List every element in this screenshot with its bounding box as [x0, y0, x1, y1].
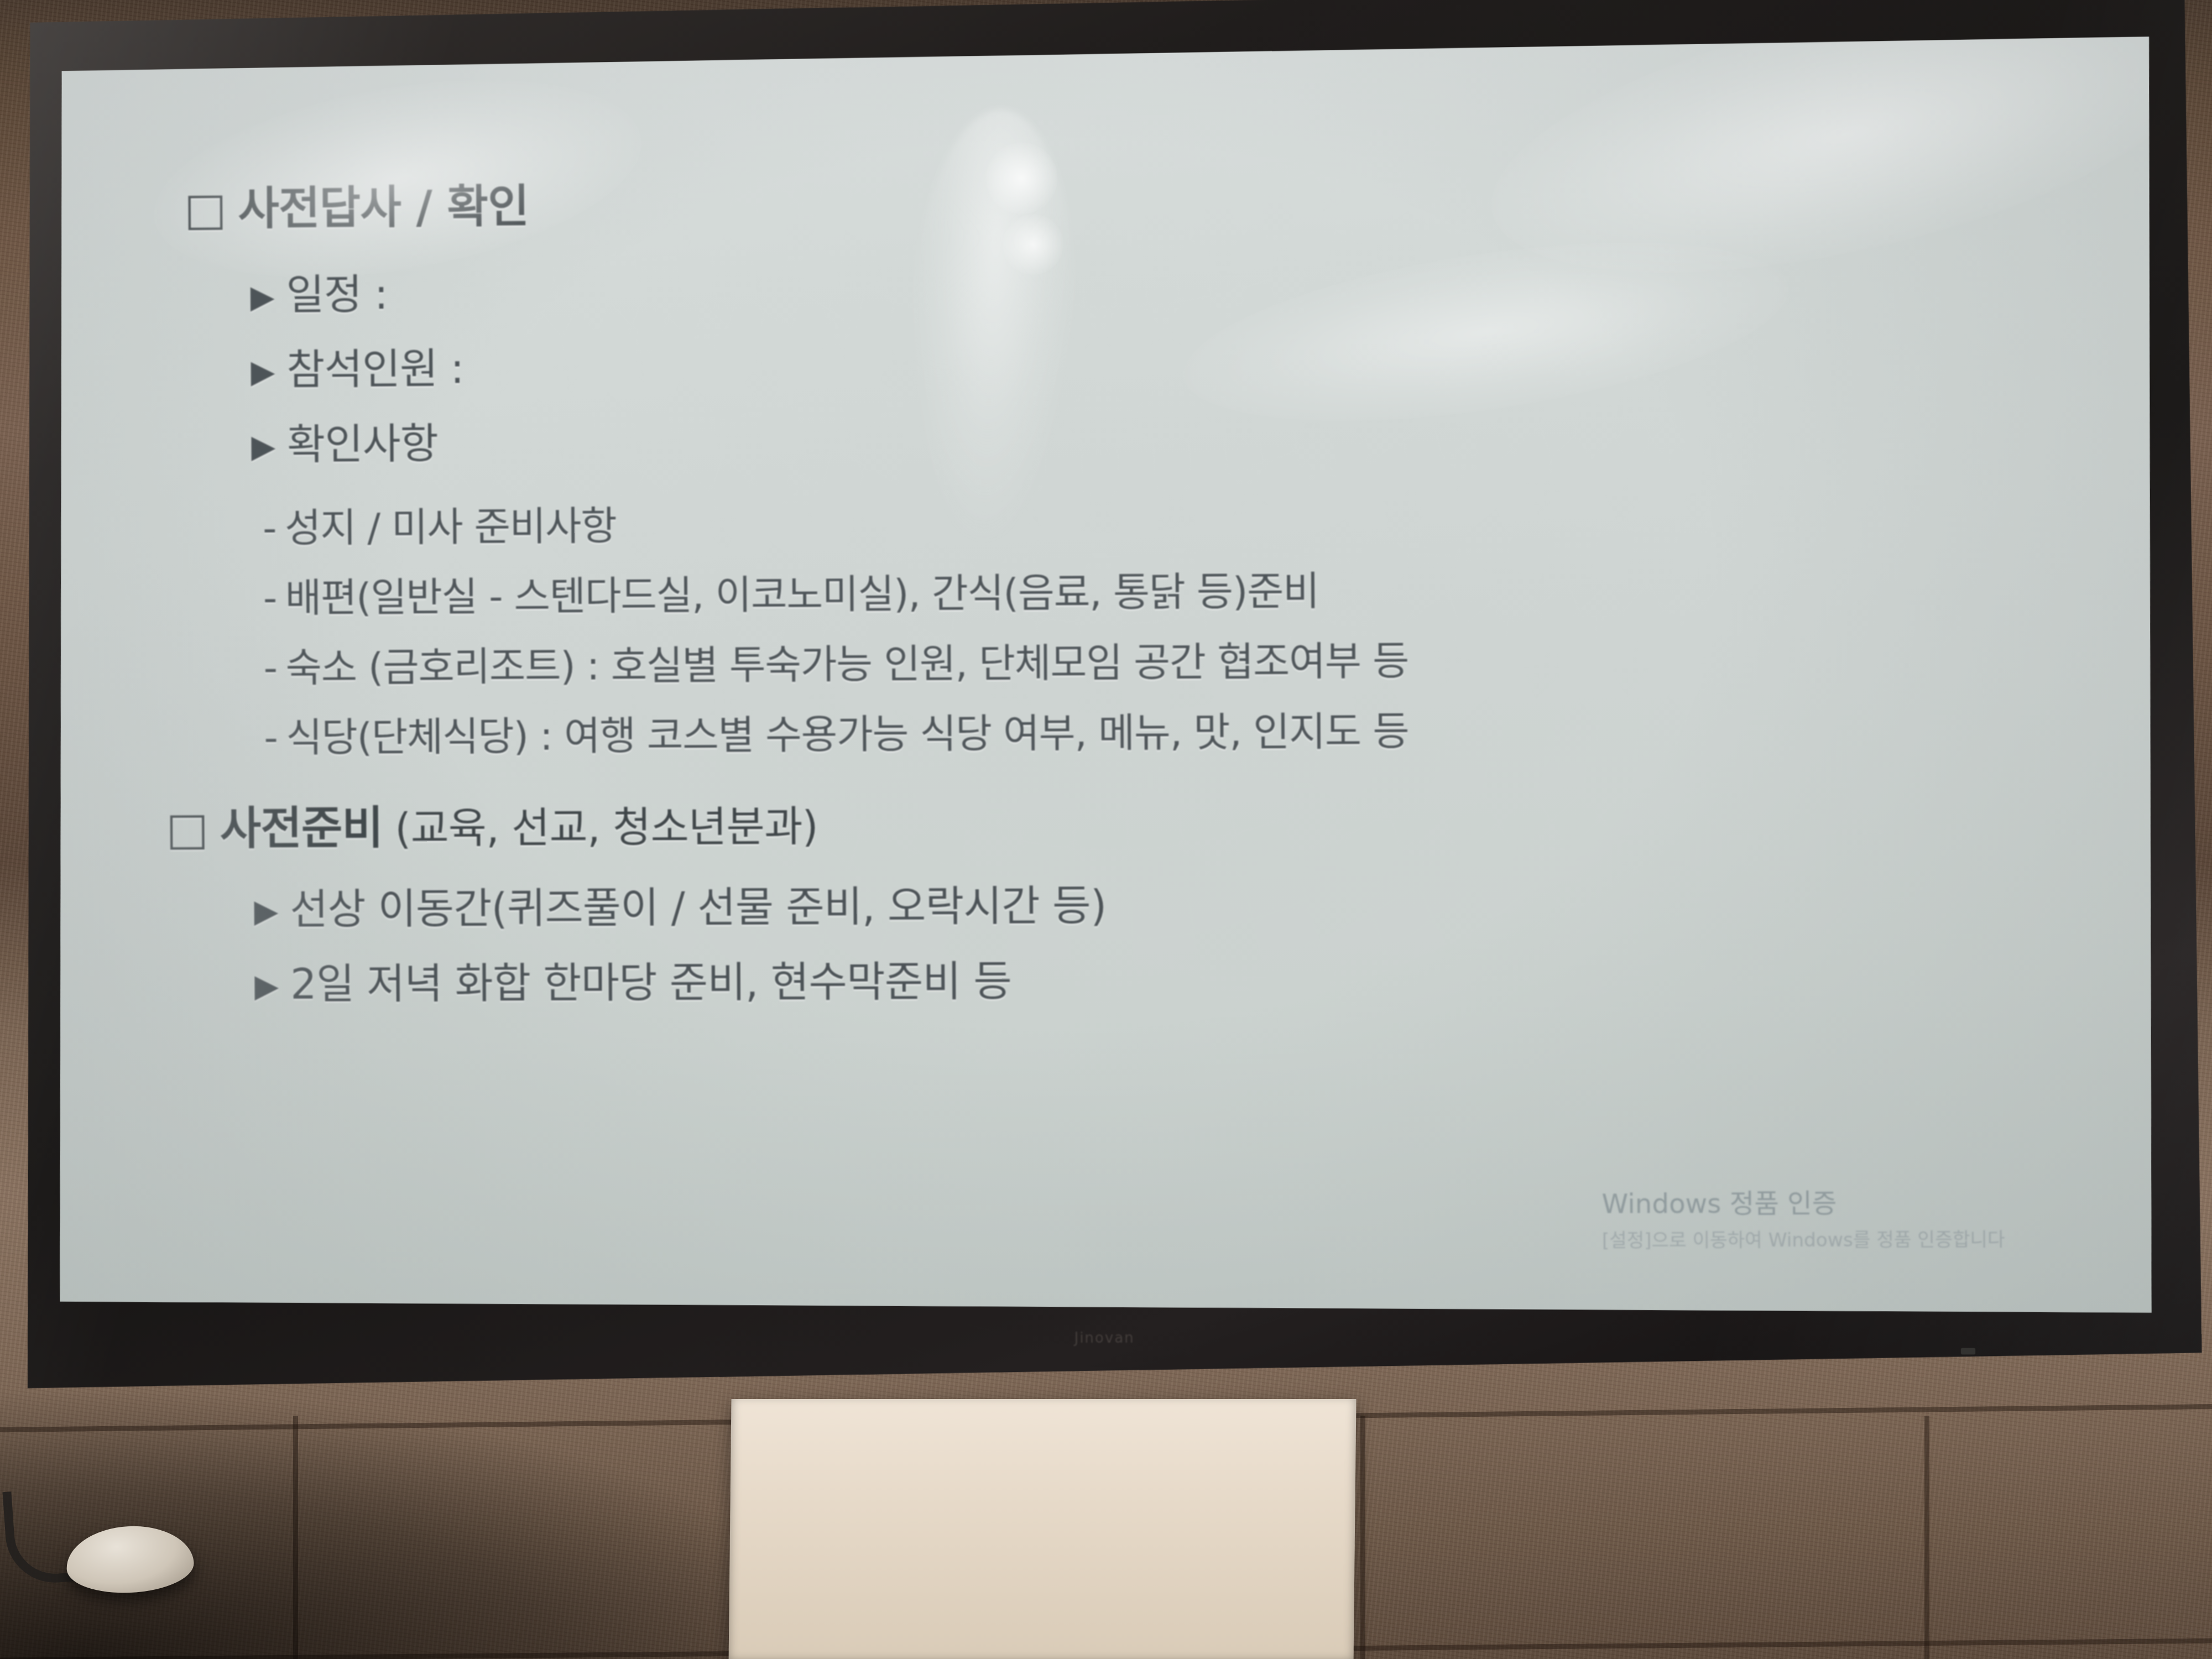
sub-list-item-label: 성지 / 미사 준비사항	[285, 502, 617, 551]
tv-screen[interactable]: □사전답사 / 확인 ▶일정 : ▶참석인원 : ▶확인사항 -성지 / 미사 …	[53, 36, 2161, 1327]
list-item: ▶일정 :	[250, 245, 2088, 322]
sub-list-item-label: 배편(일반실 - 스텐다드실, 이코노미실), 간식(음료, 통닭 등)준비	[285, 567, 1319, 620]
list-item-label: 2일 저녁 화합 한마당 준비, 현수막준비 등	[290, 957, 1012, 1009]
list-item-label: 일정 :	[286, 270, 388, 320]
presentation-slide: □사전답사 / 확인 ▶일정 : ▶참석인원 : ▶확인사항 -성지 / 미사 …	[53, 36, 2161, 1327]
triangle-bullet-icon: ▶	[254, 967, 279, 1004]
under-tv-panel	[728, 1399, 1356, 1659]
watermark-title: Windows 정품 인증	[1601, 1184, 2161, 1224]
triangle-bullet-icon: ▶	[250, 278, 274, 315]
section-heading-text: 사전준비	[220, 802, 383, 855]
list-item-label: 선상 이동간(퀴즈풀이 / 선물 준비, 오락시간 등)	[290, 881, 1107, 934]
checkbox-square-icon: □	[184, 183, 226, 236]
triangle-bullet-icon: ▶	[251, 427, 275, 465]
triangle-bullet-icon: ▶	[251, 353, 275, 390]
list-item-label: 확인사항	[287, 419, 438, 469]
dash-bullet-icon: -	[264, 714, 278, 761]
list-item: ▶확인사항	[251, 397, 2089, 472]
wall-mounted-tv: Jinovan □사전답사 / 확인 ▶일정 : ▶참석인원 : ▶확인사항 -…	[15, 0, 2202, 1390]
wall-grout-line	[1360, 1416, 1365, 1659]
checkbox-square-icon: □	[166, 803, 208, 855]
tv-brand-logo: Jinovan	[1074, 1330, 1135, 1347]
dash-bullet-icon: -	[263, 505, 276, 551]
windows-activation-watermark: Windows 정품 인증 [설정]으로 이동하여 Windows를 정품 인증…	[1601, 1184, 2161, 1255]
list-item-label: 참석인원 :	[286, 344, 464, 394]
section-heading-text: 사전답사 / 확인	[238, 180, 529, 235]
list-item: ▶2일 저녁 화합 한마당 준비, 현수막준비 등	[254, 942, 2092, 1011]
wall-grout-line	[1924, 1416, 1929, 1659]
section-heading: □사전준비(교육, 선교, 청소년분과)	[166, 781, 2091, 857]
dash-bullet-icon: -	[263, 575, 276, 621]
triangle-bullet-icon: ▶	[254, 892, 278, 930]
watermark-subtitle: [설정]으로 이동하여 Windows를 정품 인증합니다	[1602, 1226, 2161, 1255]
dash-bullet-icon: -	[263, 645, 277, 691]
sub-list-item: -식당(단체식당) : 여행 코스별 수용가능 식당 여부, 메뉴, 맛, 인지…	[264, 694, 2090, 763]
list-item: ▶선상 이동간(퀴즈풀이 / 선물 준비, 오락시간 등)	[254, 867, 2091, 936]
tv-power-led	[1961, 1348, 1975, 1354]
sub-list-item: -숙소 (금호리조트) : 호실별 투숙가능 인원, 단체모임 공간 협조여부 …	[263, 623, 2090, 693]
section-heading: □사전답사 / 확인	[184, 154, 2088, 238]
section-heading-suffix: (교육, 선교, 청소년분과)	[395, 802, 818, 853]
list-item: ▶참석인원 :	[251, 321, 2088, 397]
sub-list-item-label: 숙소 (금호리조트) : 호실별 투숙가능 인원, 단체모임 공간 협조여부 등	[285, 637, 1408, 691]
sub-list-item-label: 식당(단체식당) : 여행 코스별 수용가능 식당 여부, 메뉴, 맛, 인지도…	[286, 708, 1408, 761]
sub-list-item: -배편(일반실 - 스텐다드실, 이코노미실), 간식(음료, 통닭 등)준비	[263, 553, 2089, 623]
